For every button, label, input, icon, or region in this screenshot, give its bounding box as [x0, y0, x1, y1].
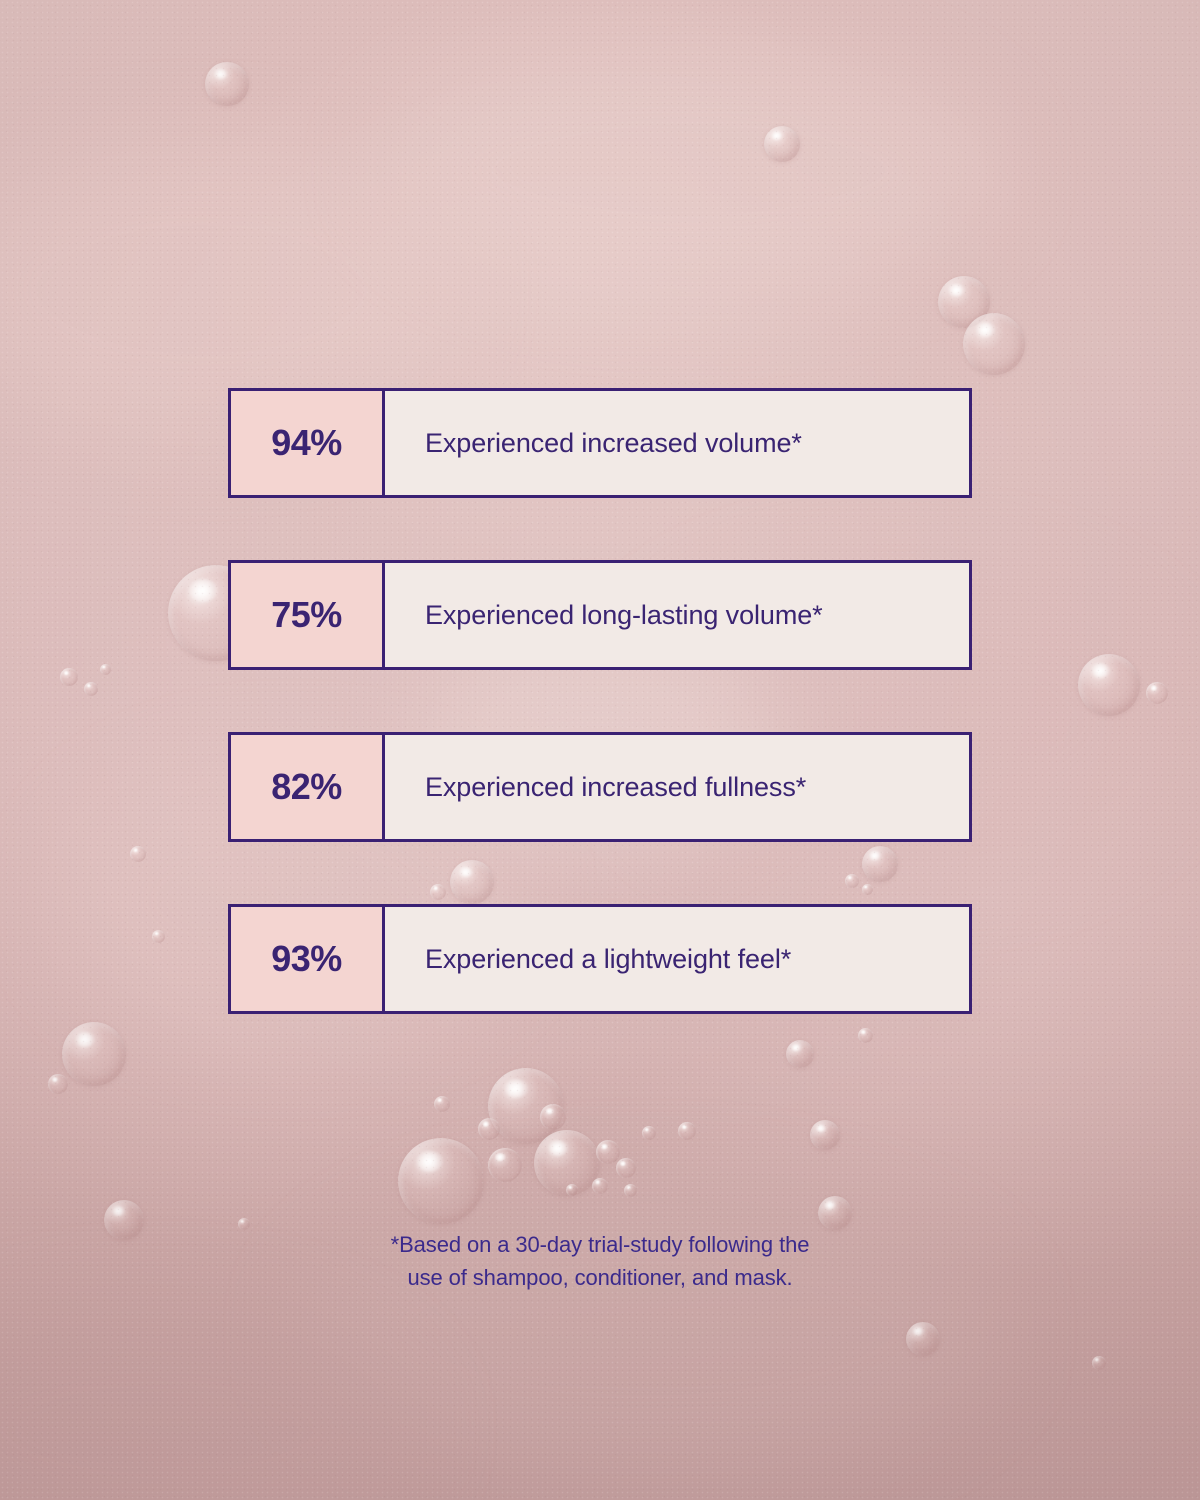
footnote: *Based on a 30-day trial-study following…	[0, 1228, 1200, 1294]
stat-label: Experienced increased volume*	[385, 391, 969, 495]
stat-label: Experienced increased fullness*	[385, 735, 969, 839]
footnote-line-1: *Based on a 30-day trial-study following…	[0, 1228, 1200, 1261]
footnote-line-2: use of shampoo, conditioner, and mask.	[0, 1261, 1200, 1294]
stat-percent: 94%	[231, 391, 385, 495]
stat-percent: 82%	[231, 735, 385, 839]
stat-row: 82% Experienced increased fullness*	[228, 732, 972, 842]
stat-percent: 93%	[231, 907, 385, 1011]
stat-label: Experienced long-lasting volume*	[385, 563, 969, 667]
stat-percent: 75%	[231, 563, 385, 667]
stat-row: 94% Experienced increased volume*	[228, 388, 972, 498]
stat-row: 93% Experienced a lightweight feel*	[228, 904, 972, 1014]
content-layer: 94% Experienced increased volume* 75% Ex…	[0, 0, 1200, 1500]
stat-list: 94% Experienced increased volume* 75% Ex…	[228, 388, 972, 1014]
stat-row: 75% Experienced long-lasting volume*	[228, 560, 972, 670]
stat-label: Experienced a lightweight feel*	[385, 907, 969, 1011]
